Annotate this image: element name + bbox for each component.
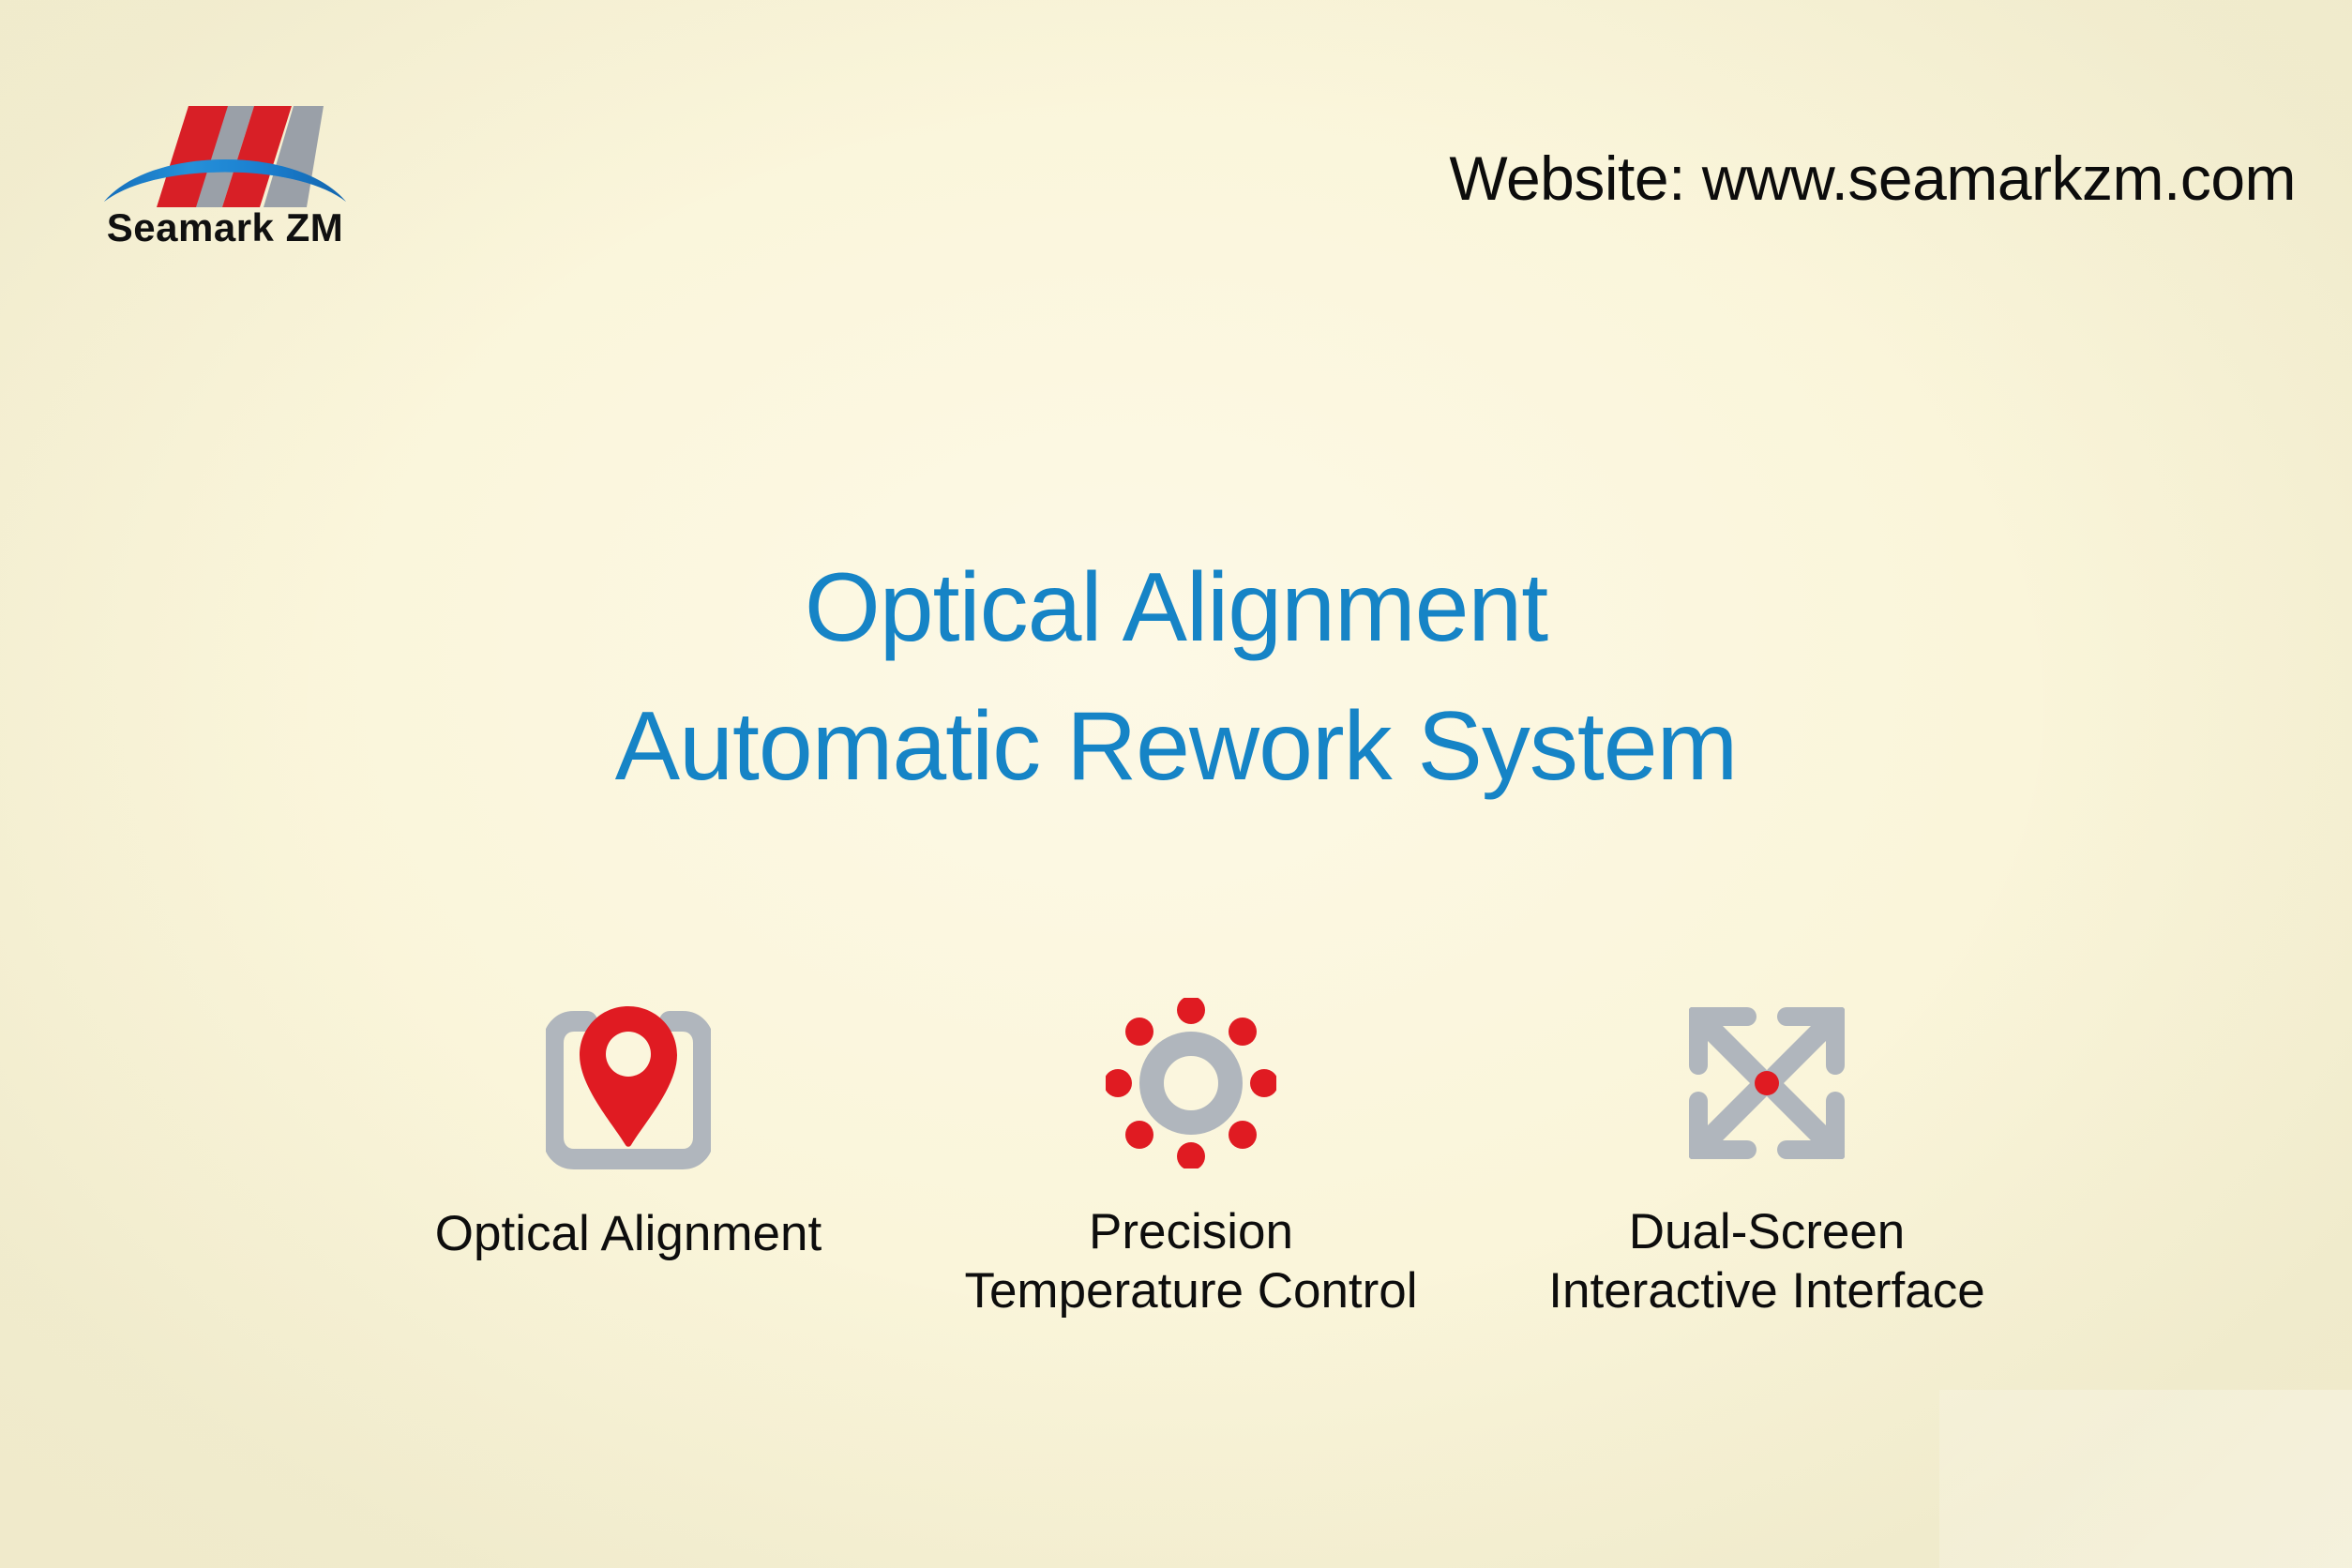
feature-list: Optical Alignment Precisi (384, 989, 1998, 1320)
seamark-monogram-arc-logo (98, 97, 352, 209)
brand-logo[interactable]: Seamark ZM (98, 97, 352, 265)
page-title-line-1: Optical Alignment (0, 539, 2352, 678)
feature-item-dual-screen[interactable]: Dual-Screen Interactive Interface (1523, 989, 2011, 1320)
brand-logo-text: Seamark ZM (98, 205, 352, 250)
page-title: Optical Alignment Automatic Rework Syste… (0, 539, 2352, 816)
website-label[interactable]: Website: www.seamarkzm.com (1449, 143, 2296, 214)
temperature-ring-dots-icon (1102, 989, 1280, 1177)
feature-item-optical-alignment[interactable]: Optical Alignment (384, 989, 872, 1264)
page-title-line-2: Automatic Rework System (0, 678, 2352, 817)
feature-label-temperature-control: Precision Temperature Control (964, 1203, 1417, 1320)
location-pin-frame-icon (539, 989, 717, 1177)
feature-label-dual-screen: Dual-Screen Interactive Interface (1548, 1203, 1984, 1320)
background-artifact-panel (1939, 1390, 2352, 1568)
slide-canvas: Seamark ZM Website: www.seamarkzm.com Op… (0, 0, 2352, 1568)
expand-four-arrows-icon (1678, 989, 1856, 1177)
feature-label-optical-alignment: Optical Alignment (435, 1205, 822, 1264)
feature-item-temperature-control[interactable]: Precision Temperature Control (947, 989, 1435, 1320)
